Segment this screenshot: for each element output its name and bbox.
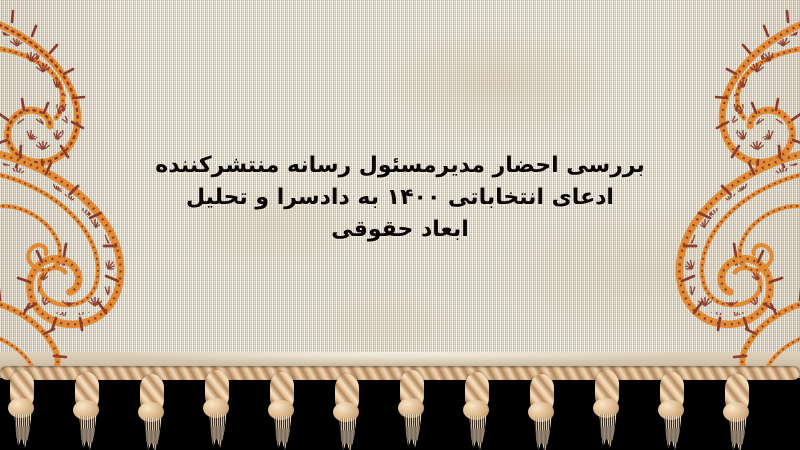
tassel-brush: [141, 418, 165, 450]
slide-title: بررسی احضار مدیرمسئول رسانه منتشرکننده ا…: [0, 150, 800, 246]
title-line-3: ابعاد حقوقی: [0, 214, 800, 246]
tassel-fringe: [0, 360, 800, 450]
tassel-brush: [466, 416, 490, 450]
tassel: [721, 374, 755, 450]
tassel-brush: [271, 416, 295, 450]
tassel-brush: [336, 418, 360, 450]
tassel: [331, 374, 365, 450]
tassel: [461, 372, 495, 450]
title-line-2: ادعای انتخاباتی ۱۴۰۰ به دادسرا و تحلیل: [0, 182, 800, 214]
tassel: [136, 374, 170, 450]
tassel-brush: [76, 416, 100, 450]
tassel: [656, 372, 690, 450]
tassel-brush: [726, 418, 750, 450]
tassel: [591, 370, 625, 448]
tassel-brush: [11, 414, 35, 448]
tassel: [396, 370, 430, 448]
tassel: [6, 370, 40, 448]
tassel: [71, 372, 105, 450]
tassel: [266, 372, 300, 450]
tassel-brush: [206, 414, 230, 448]
title-line-1: بررسی احضار مدیرمسئول رسانه منتشرکننده: [0, 150, 800, 182]
slide-canvas: بررسی احضار مدیرمسئول رسانه منتشرکننده ا…: [0, 0, 800, 450]
tassel: [526, 374, 560, 450]
tassel-brush: [531, 418, 555, 450]
tassel: [201, 370, 235, 448]
tassel-brush: [596, 414, 620, 448]
tassel-brush: [661, 416, 685, 450]
tassel-brush: [401, 414, 425, 448]
